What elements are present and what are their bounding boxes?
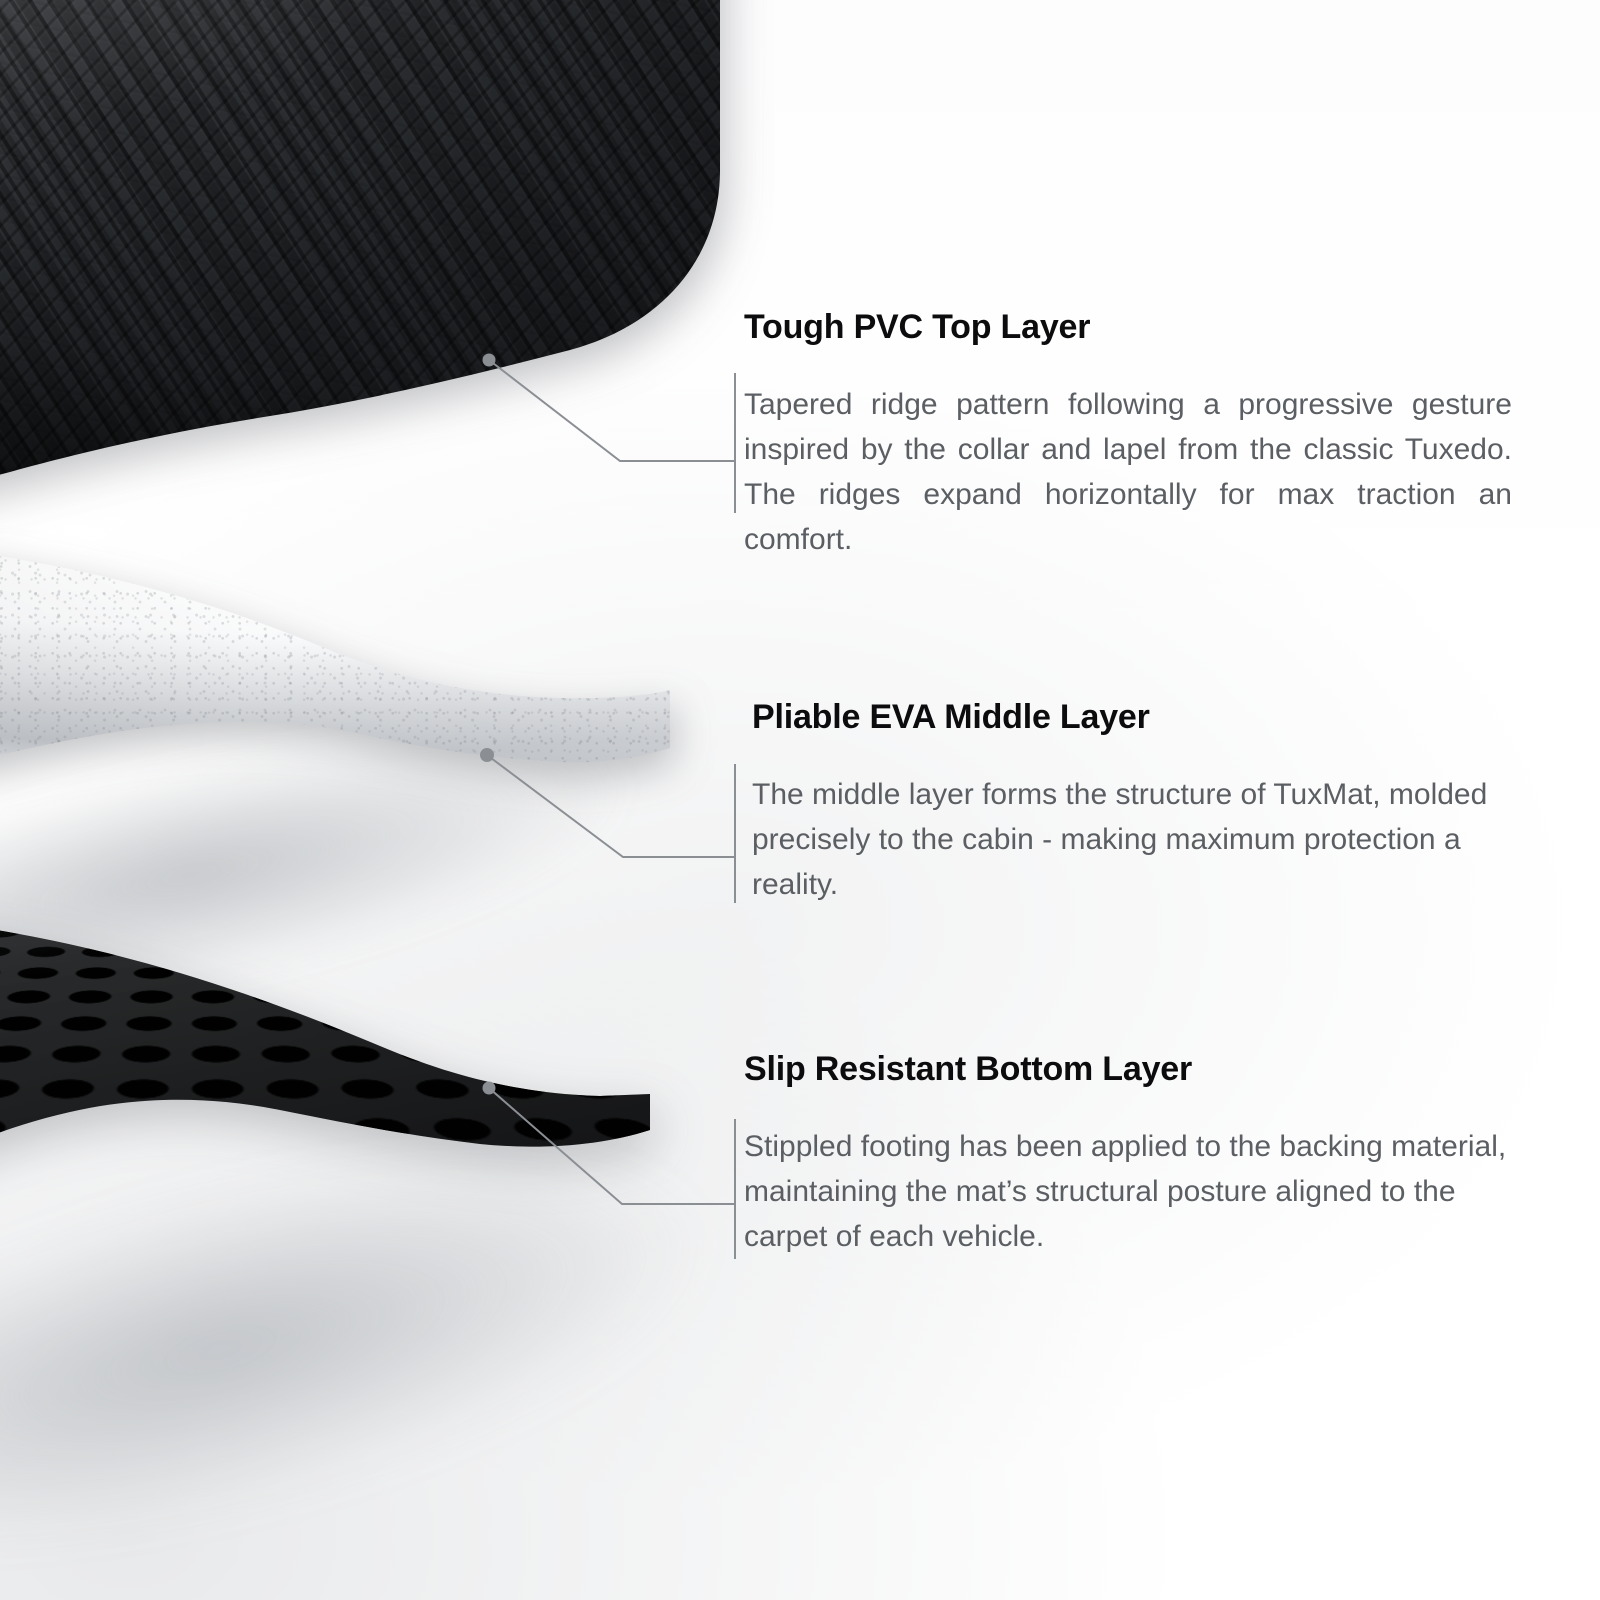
leader-path-2 (487, 755, 735, 857)
callout-body-eva: The middle layer forms the structure of … (752, 772, 1520, 907)
callout-pvc-top-layer: Tough PVC Top Layer Tapered ridge patter… (744, 310, 1512, 562)
leader-dot-2 (480, 748, 494, 762)
callout-heading-pvc: Tough PVC Top Layer (744, 310, 1512, 344)
callout-heading-eva: Pliable EVA Middle Layer (752, 700, 1520, 734)
callout-eva-middle-layer: Pliable EVA Middle Layer The middle laye… (752, 700, 1520, 907)
callout-body-pvc: Tapered ridge pattern following a progre… (744, 382, 1512, 562)
callout-heading-slip: Slip Resistant Bottom Layer (744, 1052, 1514, 1086)
layer-construction-diagram: Tough PVC Top Layer Tapered ridge patter… (0, 0, 1600, 1600)
leader-path-1 (489, 360, 735, 461)
leader-dot-3 (483, 1082, 496, 1095)
callout-body-slip: Stippled footing has been applied to the… (744, 1124, 1514, 1259)
leader-dot-1 (483, 354, 496, 367)
leader-path-3 (489, 1088, 735, 1204)
callout-slip-bottom-layer: Slip Resistant Bottom Layer Stippled foo… (744, 1052, 1514, 1259)
